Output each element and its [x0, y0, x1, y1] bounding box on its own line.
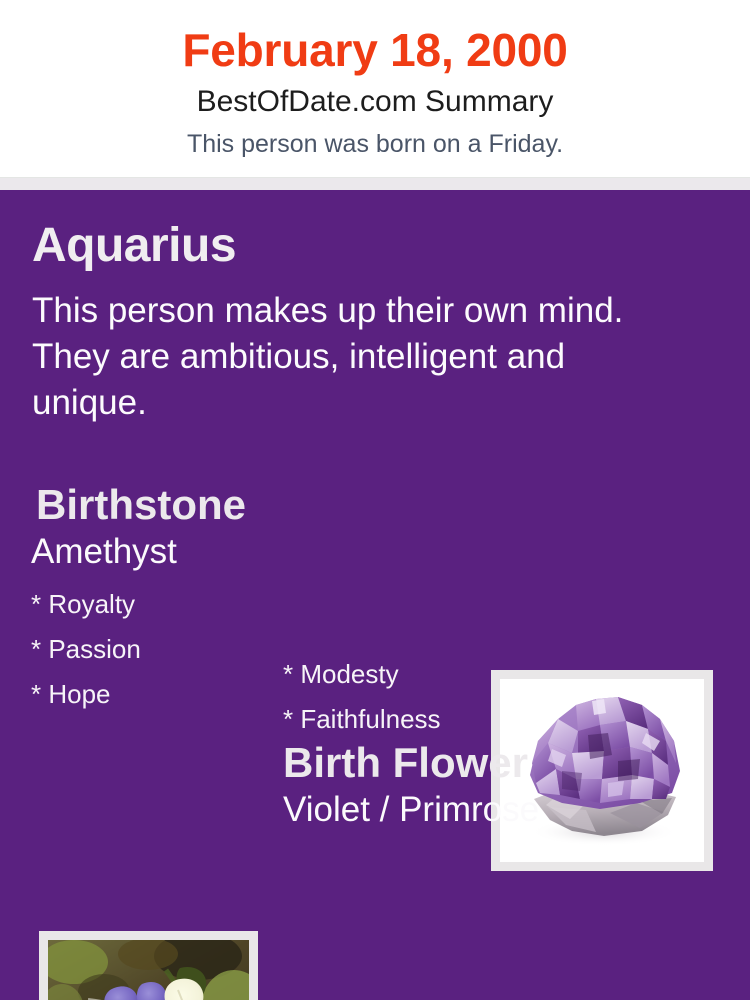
birth-flower-trait-list: * Modesty * Faithfulness: [283, 652, 703, 742]
birth-flower-name: Violet / Primrose: [283, 788, 539, 832]
details-panel: Aquarius This person makes up their own …: [0, 190, 750, 1000]
birth-flower-photo-frame: [39, 931, 258, 1000]
list-item: * Faithfulness: [283, 697, 703, 742]
card-header: February 18, 2000 BestOfDate.com Summary…: [0, 0, 750, 177]
born-weekday-text: This person was born on a Friday.: [0, 128, 750, 160]
birthstone-heading: Birthstone: [36, 480, 246, 530]
birthstone-name: Amethyst: [31, 530, 177, 574]
header-divider: [0, 177, 750, 191]
page-title: February 18, 2000: [0, 22, 750, 78]
list-item: * Royalty: [31, 582, 451, 627]
site-summary-label: BestOfDate.com Summary: [0, 84, 750, 120]
list-item: * Modesty: [283, 652, 703, 697]
birthday-summary-card: February 18, 2000 BestOfDate.com Summary…: [0, 0, 750, 1000]
birth-flower-heading: Birth Flower: [283, 738, 528, 788]
zodiac-description: This person makes up their own mind. The…: [32, 288, 677, 426]
zodiac-sign-heading: Aquarius: [32, 218, 236, 274]
violet-primrose-photo: [48, 940, 249, 1000]
